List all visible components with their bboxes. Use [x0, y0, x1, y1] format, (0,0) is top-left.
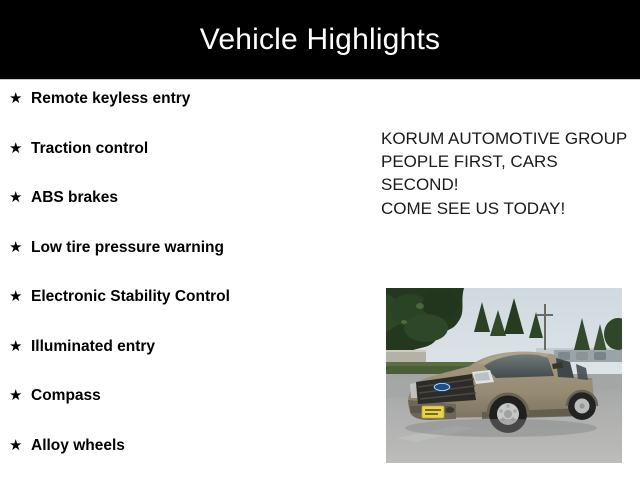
feature-label: Illuminated entry	[31, 336, 155, 358]
list-item: ★ Electronic Stability Control	[0, 286, 370, 336]
vehicle-feature-list: ★ Remote keyless entry ★ Traction contro…	[0, 88, 370, 484]
vehicle-photo	[386, 288, 622, 463]
header-banner: Vehicle Highlights	[0, 0, 640, 79]
star-bullet-icon: ★	[9, 187, 31, 209]
star-bullet-icon: ★	[9, 385, 31, 407]
list-item: ★ Traction control	[0, 138, 370, 188]
star-bullet-icon: ★	[9, 138, 31, 160]
list-item: ★ Illuminated entry	[0, 336, 370, 386]
star-bullet-icon: ★	[9, 435, 31, 457]
star-bullet-icon: ★	[9, 237, 31, 259]
header-divider	[0, 79, 640, 80]
dealer-message-line: KORUM AUTOMOTIVE GROUP	[381, 127, 631, 150]
star-bullet-icon: ★	[9, 88, 31, 110]
star-bullet-icon: ★	[9, 336, 31, 358]
dealer-message-line: COME SEE US TODAY!	[381, 197, 631, 220]
vehicle-photo-image	[386, 288, 622, 463]
star-bullet-icon: ★	[9, 286, 31, 308]
list-item: ★ ABS brakes	[0, 187, 370, 237]
list-item: ★ Low tire pressure warning	[0, 237, 370, 287]
dealer-message-line: PEOPLE FIRST, CARS SECOND!	[381, 150, 631, 196]
list-item: ★ Compass	[0, 385, 370, 435]
feature-label: Traction control	[31, 138, 148, 160]
dealer-message: KORUM AUTOMOTIVE GROUP PEOPLE FIRST, CAR…	[381, 127, 631, 220]
page-title: Vehicle Highlights	[200, 25, 440, 55]
feature-label: Compass	[31, 385, 101, 407]
list-item: ★ Alloy wheels	[0, 435, 370, 484]
feature-label: ABS brakes	[31, 187, 118, 209]
feature-label: Low tire pressure warning	[31, 237, 224, 259]
feature-label: Electronic Stability Control	[31, 286, 230, 308]
feature-label: Alloy wheels	[31, 435, 125, 457]
feature-label: Remote keyless entry	[31, 88, 190, 110]
list-item: ★ Remote keyless entry	[0, 88, 370, 138]
